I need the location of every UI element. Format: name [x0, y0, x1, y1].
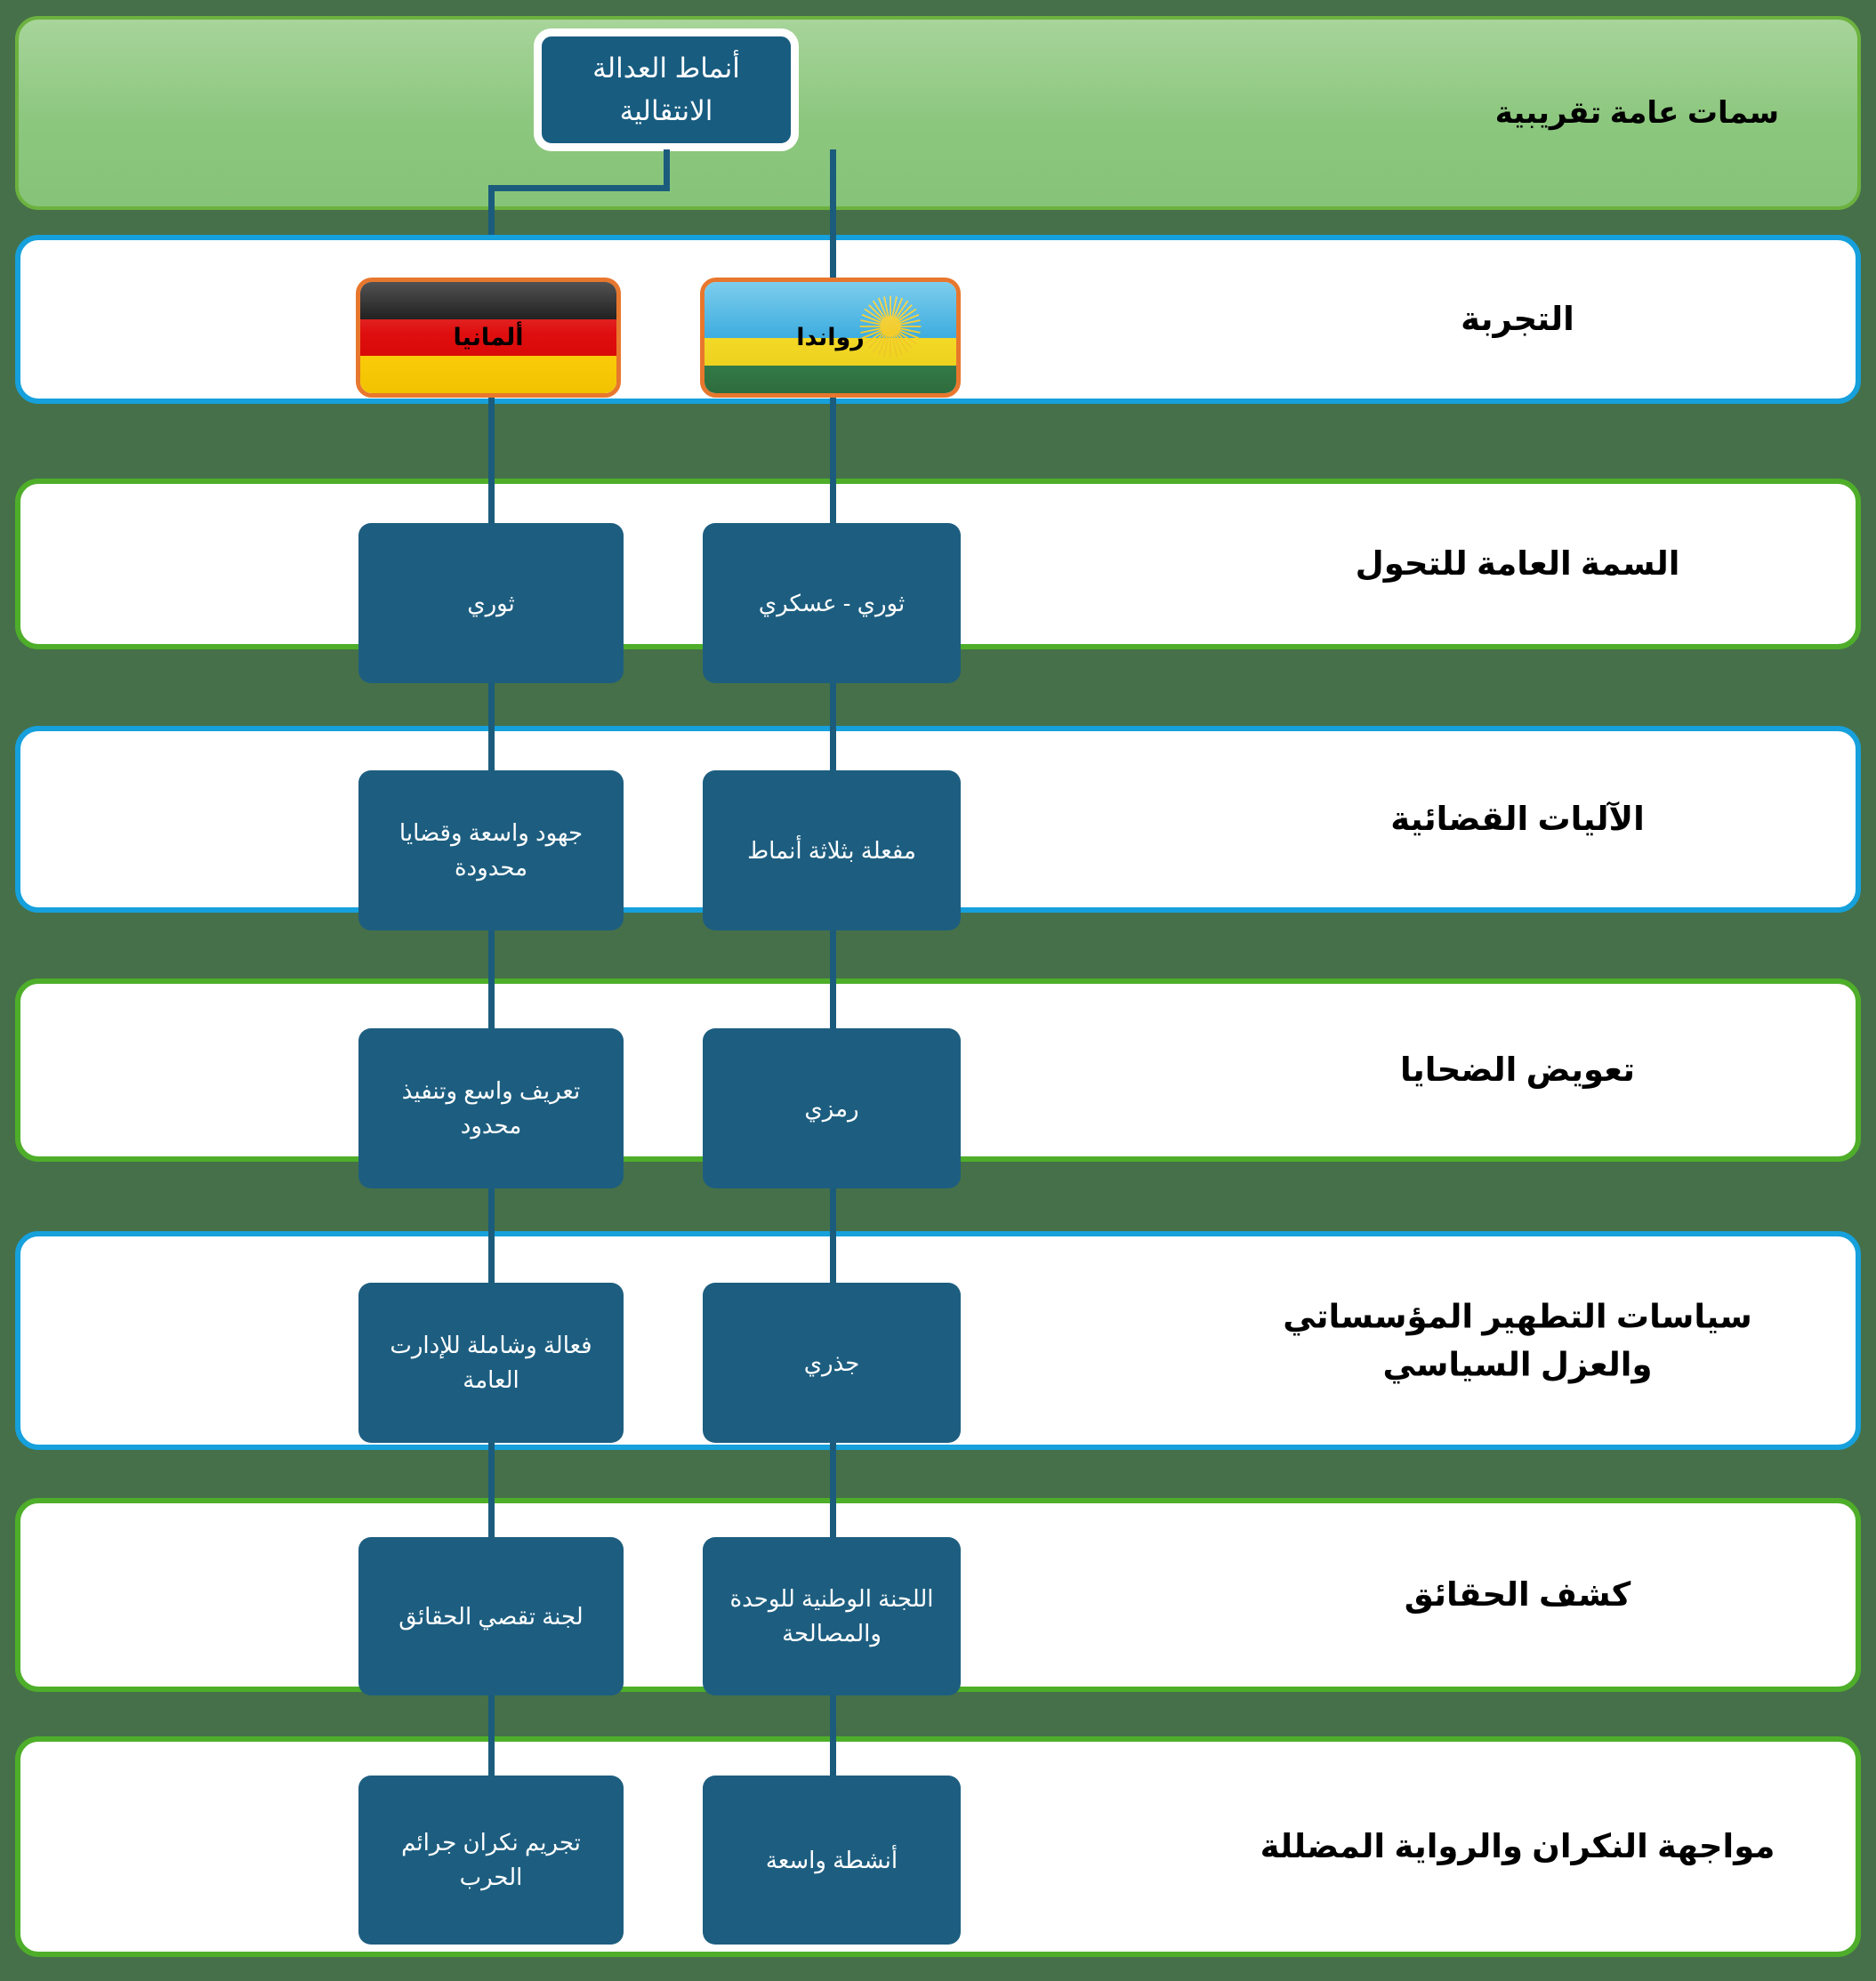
germany-flag-gold-stripe	[360, 356, 616, 393]
connector-root-bus	[488, 185, 670, 191]
value-box-germany-5[interactable]: فعالة وشاملة للإدارت العامة	[358, 1283, 624, 1443]
row-label-6: كشف الحقائق	[1242, 1571, 1793, 1619]
rwanda-flag-green-stripe	[705, 366, 956, 393]
header-band: سمات عامة تقريبية	[15, 16, 1861, 210]
row-label-7: مواجهة النكران والرواية المضللة	[1242, 1823, 1793, 1871]
germany-flag-label: ألمانيا	[454, 324, 524, 351]
germany-flag[interactable]: ألمانيا	[356, 278, 621, 398]
connector-rw-0	[830, 149, 836, 279]
rwanda-flag-label: رواندا	[796, 324, 865, 351]
connector-rw-1	[830, 391, 836, 525]
root-title-node[interactable]: أنماط العدالة الانتقالية	[534, 28, 799, 151]
value-box-germany-4[interactable]: تعريف واسع وتنفيذ محدود	[358, 1028, 624, 1188]
header-right-label: سمات عامة تقريبية	[1495, 95, 1779, 131]
value-box-rwanda-7[interactable]: أنشطة واسعة	[703, 1776, 961, 1945]
value-box-germany-2[interactable]: ثوري	[358, 523, 624, 683]
connector-root-stem	[664, 149, 670, 189]
row-label-3: الآليات القضائية	[1242, 795, 1793, 843]
rwanda-flag-sun-icon	[856, 292, 925, 361]
row-label-5: سياسات التطهير المؤسساتي والعزل السياسي	[1242, 1292, 1793, 1388]
row-label-4: تعويض الضحايا	[1242, 1046, 1793, 1094]
value-box-germany-6[interactable]: لجنة تقصي الحقائق	[358, 1537, 624, 1695]
value-box-rwanda-2[interactable]: ثوري - عسكري	[703, 523, 961, 683]
value-box-rwanda-3[interactable]: مفعلة بثلاثة أنماط	[703, 770, 961, 930]
connector-de-1	[488, 391, 495, 525]
germany-flag-black-stripe	[360, 282, 616, 319]
value-box-germany-3[interactable]: جهود واسعة وقضايا محدودة	[358, 770, 624, 930]
row-label-1: التجربة	[1242, 295, 1793, 343]
value-box-rwanda-5[interactable]: جذري	[703, 1283, 961, 1443]
rwanda-flag[interactable]: رواندا	[700, 278, 961, 398]
value-box-germany-7[interactable]: تجريم نكران جرائم الحرب	[358, 1776, 624, 1945]
value-box-rwanda-4[interactable]: رمزي	[703, 1028, 961, 1188]
row-label-2: السمة العامة للتحول	[1242, 540, 1793, 588]
value-box-rwanda-6[interactable]: اللجنة الوطنية للوحدة والمصالحة	[703, 1537, 961, 1695]
